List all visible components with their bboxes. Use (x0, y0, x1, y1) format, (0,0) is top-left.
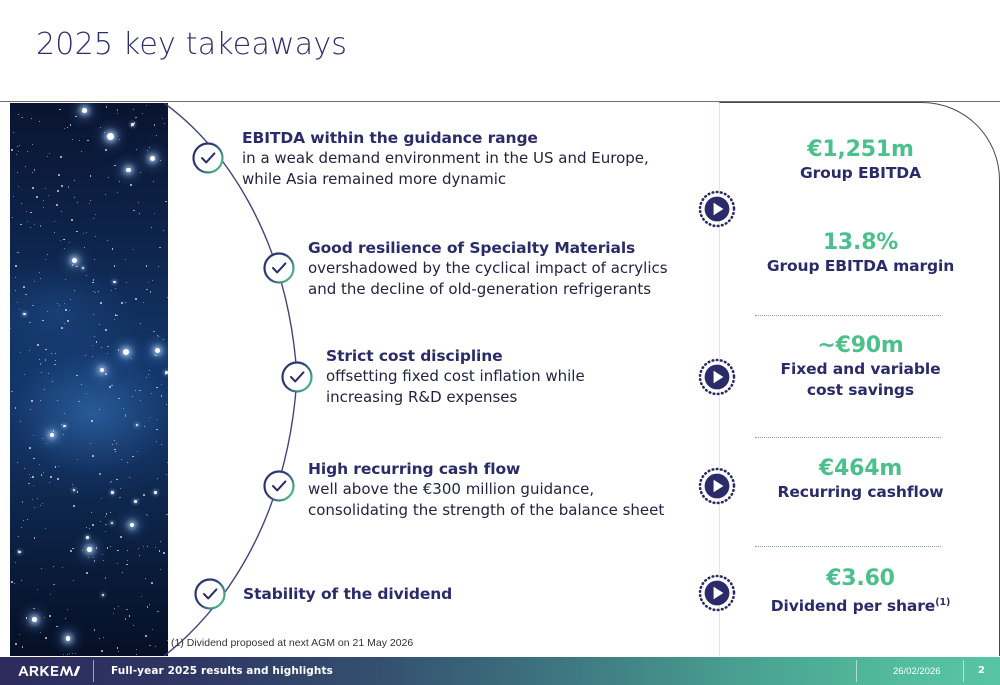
star (107, 240, 108, 241)
star (40, 505, 41, 506)
footer-page-number: 2 (978, 665, 985, 676)
star (99, 473, 100, 474)
star (143, 494, 145, 496)
star (71, 219, 73, 221)
star (62, 567, 63, 568)
star (131, 358, 132, 359)
star (117, 647, 119, 649)
star (157, 478, 158, 479)
star (34, 169, 35, 170)
star (69, 242, 70, 243)
star (18, 551, 21, 554)
star (78, 401, 79, 402)
play-icon[interactable] (697, 357, 737, 397)
star (19, 145, 20, 146)
star (15, 290, 16, 291)
star (126, 564, 128, 566)
star (111, 522, 114, 525)
star (95, 214, 96, 215)
footer-date: 26/02/2026 (893, 666, 941, 677)
star (125, 618, 126, 619)
star (108, 177, 109, 178)
star (18, 114, 19, 115)
star (107, 353, 108, 354)
star (114, 319, 115, 320)
star (29, 447, 31, 449)
play-icon[interactable] (697, 573, 737, 613)
star (151, 393, 152, 394)
kpi-value: €3.60 (720, 566, 1000, 592)
star (47, 311, 48, 312)
star (21, 203, 22, 204)
star (138, 202, 139, 203)
takeaway-item-1: EBITDA within the guidance range in a we… (242, 128, 649, 190)
star (33, 435, 34, 436)
star (27, 519, 28, 520)
takeaway-line: offsetting fixed cost inflation while (326, 366, 585, 387)
star (122, 572, 124, 574)
check-circle-icon (265, 472, 294, 501)
star (98, 291, 100, 293)
star (33, 485, 34, 486)
star (45, 359, 46, 360)
star (42, 320, 44, 322)
star (105, 149, 107, 151)
check-circle-icon (283, 363, 312, 392)
star (70, 550, 72, 552)
star (86, 232, 87, 233)
star (32, 617, 37, 622)
kpi-item-4: €464m Recurring cashflow (720, 456, 1000, 503)
kpi-label: Recurring cashflow (720, 482, 1000, 503)
star (67, 654, 68, 655)
star (114, 440, 115, 441)
star (138, 548, 139, 549)
star-bright (107, 133, 114, 140)
star (48, 373, 49, 374)
kpi-item-5: €3.60 Dividend per share(1) (720, 566, 1000, 617)
star (41, 568, 42, 569)
star (102, 594, 105, 597)
star (119, 181, 120, 182)
star (18, 186, 19, 187)
star (69, 310, 70, 311)
star (53, 584, 54, 585)
star (72, 548, 73, 549)
star (50, 476, 52, 478)
star (149, 147, 150, 148)
star (54, 364, 55, 365)
star (141, 596, 142, 597)
star (15, 643, 17, 645)
star (114, 165, 115, 166)
star (57, 303, 58, 304)
star (117, 550, 119, 552)
star (147, 546, 148, 547)
star (45, 259, 46, 260)
star (64, 303, 65, 304)
star (72, 264, 73, 265)
star (51, 353, 52, 354)
star (86, 527, 87, 528)
star-bright (130, 523, 134, 527)
play-icon[interactable] (697, 189, 737, 229)
star (136, 649, 137, 650)
star (135, 117, 136, 118)
star (154, 213, 155, 214)
star (20, 352, 21, 353)
kpi-item-2: 13.8% Group EBITDA margin (720, 230, 1000, 277)
star (86, 536, 89, 539)
star (140, 172, 141, 173)
star (60, 156, 62, 158)
star (84, 247, 86, 249)
star (156, 429, 158, 431)
star (129, 615, 130, 616)
star (99, 324, 100, 325)
star (113, 281, 116, 284)
star (40, 400, 41, 401)
star-bright (100, 368, 104, 372)
star (155, 646, 156, 647)
takeaway-line: while Asia remained more dynamic (242, 169, 649, 190)
star (61, 327, 63, 329)
star (74, 180, 75, 181)
star (132, 396, 133, 397)
star (129, 477, 130, 478)
star (45, 349, 47, 351)
star (16, 154, 17, 155)
star-bright (150, 156, 155, 161)
star (23, 286, 25, 288)
kpi-label-superscript: (1) (935, 597, 950, 608)
star (136, 654, 137, 655)
star (152, 629, 153, 630)
star (19, 309, 20, 310)
star (28, 483, 29, 484)
footer-divider (963, 660, 964, 682)
star (40, 632, 41, 633)
star (41, 474, 42, 475)
star (13, 132, 14, 133)
star (49, 482, 50, 483)
star (46, 443, 47, 444)
takeaway-heading: EBITDA within the guidance range (242, 128, 649, 148)
starfield-image (10, 103, 168, 656)
star (81, 384, 82, 385)
star (127, 560, 128, 561)
star (73, 580, 74, 581)
star (86, 393, 87, 394)
star (106, 106, 107, 107)
star (15, 562, 16, 563)
kpi-item-1: €1,251m Group EBITDA (720, 137, 1000, 184)
star (94, 336, 95, 337)
star (101, 347, 102, 348)
star (88, 557, 89, 558)
star (139, 213, 141, 215)
star (79, 140, 80, 141)
star (104, 132, 105, 133)
star (93, 218, 94, 219)
star (142, 113, 143, 114)
star (145, 635, 147, 637)
star (64, 248, 65, 249)
star (105, 194, 106, 195)
star (39, 272, 40, 273)
star (24, 468, 25, 469)
star (59, 109, 61, 111)
star (114, 265, 116, 267)
star (155, 355, 157, 357)
star (130, 184, 132, 186)
star (50, 594, 51, 595)
star (100, 127, 101, 128)
star (99, 409, 100, 410)
takeaway-line: overshadowed by the cyclical impact of a… (308, 258, 668, 279)
star (30, 477, 31, 478)
star (144, 426, 145, 427)
star (63, 434, 64, 435)
star (32, 144, 33, 145)
star (47, 254, 48, 255)
star (109, 386, 111, 388)
star (32, 305, 33, 306)
footer-divider (856, 660, 857, 682)
star (126, 282, 127, 283)
star (61, 185, 63, 187)
star (34, 537, 35, 538)
star (66, 636, 71, 641)
star (44, 389, 45, 390)
star (86, 275, 87, 276)
star (155, 547, 156, 548)
takeaway-item-3: Strict cost discipline offsetting fixed … (326, 346, 585, 408)
star (21, 527, 22, 528)
star (92, 524, 94, 526)
star (17, 462, 18, 463)
star (92, 356, 93, 357)
takeaway-item-2: Good resilience of Specialty Materials o… (308, 238, 668, 300)
star (82, 550, 83, 551)
star (65, 309, 67, 311)
star (11, 581, 13, 583)
star (15, 407, 16, 408)
star (116, 479, 118, 481)
star (115, 451, 117, 453)
kpi-item-3: ~€90m Fixed and variable cost savings (720, 333, 1000, 401)
star (32, 187, 34, 189)
star (32, 499, 33, 500)
star (148, 282, 149, 283)
star-bright (123, 349, 129, 355)
star (25, 294, 26, 295)
star (30, 212, 32, 214)
star-bright (50, 433, 54, 437)
star (151, 227, 153, 229)
star (112, 248, 114, 250)
star (40, 363, 41, 364)
star (15, 265, 17, 267)
star (43, 472, 44, 473)
star (117, 113, 118, 114)
star (63, 425, 66, 428)
star (110, 546, 111, 547)
star (31, 400, 33, 402)
star (153, 331, 154, 332)
star (55, 353, 56, 354)
star (96, 341, 98, 343)
takeaway-item-5: Stability of the dividend (243, 584, 452, 604)
star (136, 424, 139, 427)
star (57, 400, 58, 401)
star (145, 578, 146, 579)
star (107, 346, 108, 347)
star (93, 557, 94, 558)
star (105, 524, 106, 525)
star (53, 566, 54, 567)
star (17, 302, 18, 303)
star (127, 550, 128, 551)
star (37, 344, 39, 346)
star (111, 481, 112, 482)
star (10, 328, 11, 329)
star (67, 127, 68, 128)
kpi-divider (755, 546, 941, 547)
star (37, 498, 38, 499)
kpi-value: €464m (720, 456, 1000, 482)
star (156, 135, 157, 136)
star (116, 443, 117, 444)
star (42, 503, 43, 504)
star (64, 413, 65, 414)
star (89, 203, 90, 204)
star (25, 166, 27, 168)
star (74, 290, 76, 292)
star (47, 156, 48, 157)
star (111, 290, 112, 291)
star (92, 345, 93, 346)
star (67, 320, 69, 322)
kpi-value: ~€90m (720, 333, 1000, 359)
arkema-logo (14, 664, 80, 678)
star (58, 174, 60, 176)
footnote: (1) Dividend proposed at next AGM on 21 … (171, 637, 413, 649)
star (107, 547, 109, 549)
star (86, 572, 88, 574)
star (93, 279, 94, 280)
star (65, 618, 66, 619)
star (85, 355, 86, 356)
star (29, 350, 30, 351)
star (139, 555, 140, 556)
star (95, 236, 96, 237)
star (22, 646, 23, 647)
star (27, 221, 28, 222)
star (18, 550, 19, 551)
star (106, 513, 107, 514)
kpi-label: Dividend per share(1) (720, 592, 1000, 617)
star (73, 489, 76, 492)
star (73, 505, 75, 507)
star (121, 459, 122, 460)
star (100, 521, 101, 522)
star (100, 302, 102, 304)
star (118, 398, 119, 399)
star (75, 116, 77, 118)
star (101, 650, 103, 652)
star (34, 224, 35, 225)
star (90, 175, 92, 177)
star (72, 484, 73, 485)
star (21, 580, 23, 582)
star (110, 512, 111, 513)
star (64, 323, 65, 324)
star (45, 528, 46, 529)
star (147, 606, 148, 607)
star (105, 531, 106, 532)
star (33, 458, 35, 460)
star (126, 609, 127, 610)
star (40, 278, 41, 279)
takeaway-line: increasing R&D expenses (326, 387, 585, 408)
star (63, 239, 65, 241)
star (90, 200, 91, 201)
kpi-value: 13.8% (720, 230, 1000, 256)
star (23, 313, 26, 316)
takeaway-heading: High recurring cash flow (308, 459, 664, 479)
star (11, 391, 12, 392)
star (117, 109, 118, 110)
star (33, 608, 34, 609)
star (125, 259, 126, 260)
star (48, 195, 49, 196)
star (149, 604, 150, 605)
star (74, 197, 75, 198)
star (40, 225, 41, 226)
star (150, 291, 151, 292)
star (134, 122, 136, 124)
takeaway-item-4: High recurring cash flow well above the … (308, 459, 664, 521)
star (140, 323, 141, 324)
star (17, 172, 18, 173)
star (59, 305, 60, 306)
star (153, 181, 154, 182)
play-icon[interactable] (697, 466, 737, 506)
kpi-label: Fixed and variable (720, 359, 1000, 380)
star (32, 476, 34, 478)
star (34, 507, 35, 508)
check-circle-icon (265, 254, 294, 283)
star (133, 210, 134, 211)
star (19, 634, 20, 635)
star (92, 455, 94, 457)
star (53, 430, 55, 432)
star (91, 512, 92, 513)
star (138, 499, 139, 500)
star (133, 109, 134, 110)
star (148, 374, 149, 375)
star (52, 381, 53, 382)
star (105, 577, 106, 578)
star (26, 211, 27, 212)
star (24, 374, 25, 375)
star (120, 536, 122, 538)
star (68, 186, 69, 187)
star (146, 105, 147, 106)
star (64, 128, 65, 129)
star (143, 302, 144, 303)
